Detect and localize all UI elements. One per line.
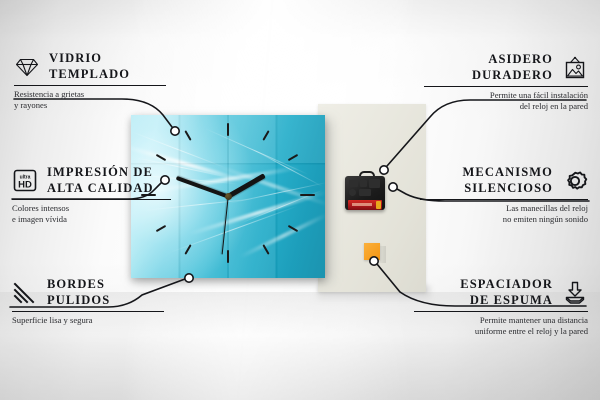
feature-rule — [414, 311, 588, 312]
feature-description: Permite mantener una distancia uniforme … — [414, 315, 588, 336]
diamond-icon — [14, 54, 40, 80]
feature-title: IMPRESIÓN DE — [47, 165, 154, 181]
feature-title: ESPACIADOR — [460, 277, 553, 293]
ultra-hd-icon: ultra HD — [12, 168, 38, 194]
down-arrow-pad-icon — [562, 280, 588, 306]
feature-mecanismo-silencioso: MECANISMO SILENCIOSO Las manecillas del … — [420, 165, 588, 225]
feature-impresion-alta-calidad: ultra HD IMPRESIÓN DE ALTA CALIDAD Color… — [12, 165, 182, 225]
feature-title: DE ESPUMA — [460, 293, 553, 309]
svg-text:HD: HD — [18, 179, 32, 190]
feature-title: BORDES — [47, 277, 110, 293]
product-infographic: VIDRIO TEMPLADO Resistencia a grietas y … — [0, 0, 600, 400]
feature-title: TEMPLADO — [49, 67, 130, 83]
feature-asidero-duradero: ASIDERO DURADERO Permite una fácil insta… — [424, 52, 588, 112]
polished-edges-icon — [12, 280, 38, 306]
feature-rule — [12, 311, 164, 312]
feature-title: ALTA CALIDAD — [47, 181, 154, 197]
feature-title: ASIDERO — [472, 52, 553, 68]
feature-bordes-pulidos: BORDES PULIDOS Superficie lisa y segura — [12, 277, 172, 326]
feature-rule — [420, 199, 588, 200]
feature-description: Las manecillas del reloj no emiten ningú… — [420, 203, 588, 224]
feature-espaciador-de-espuma: ESPACIADOR DE ESPUMA Permite mantener un… — [414, 277, 588, 337]
feature-description: Resistencia a grietas y rayones — [14, 89, 174, 110]
feature-title: MECANISMO — [463, 165, 553, 181]
picture-frame-hanger-icon — [562, 55, 588, 81]
feature-description: Permite una fácil instalación del reloj … — [424, 90, 588, 111]
feature-title: DURADERO — [472, 68, 553, 84]
feature-vidrio-templado: VIDRIO TEMPLADO Resistencia a grietas y … — [14, 51, 174, 111]
feature-title: SILENCIOSO — [463, 181, 553, 197]
gear-icon — [562, 168, 588, 194]
feature-title: PULIDOS — [47, 293, 110, 309]
feature-rule — [14, 85, 166, 86]
feature-title: VIDRIO — [49, 51, 130, 67]
feature-description: Superficie lisa y segura — [12, 315, 172, 326]
feature-rule — [424, 86, 588, 87]
feature-description: Colores intensos e imagen vívida — [12, 203, 182, 224]
feature-rule — [12, 199, 171, 200]
